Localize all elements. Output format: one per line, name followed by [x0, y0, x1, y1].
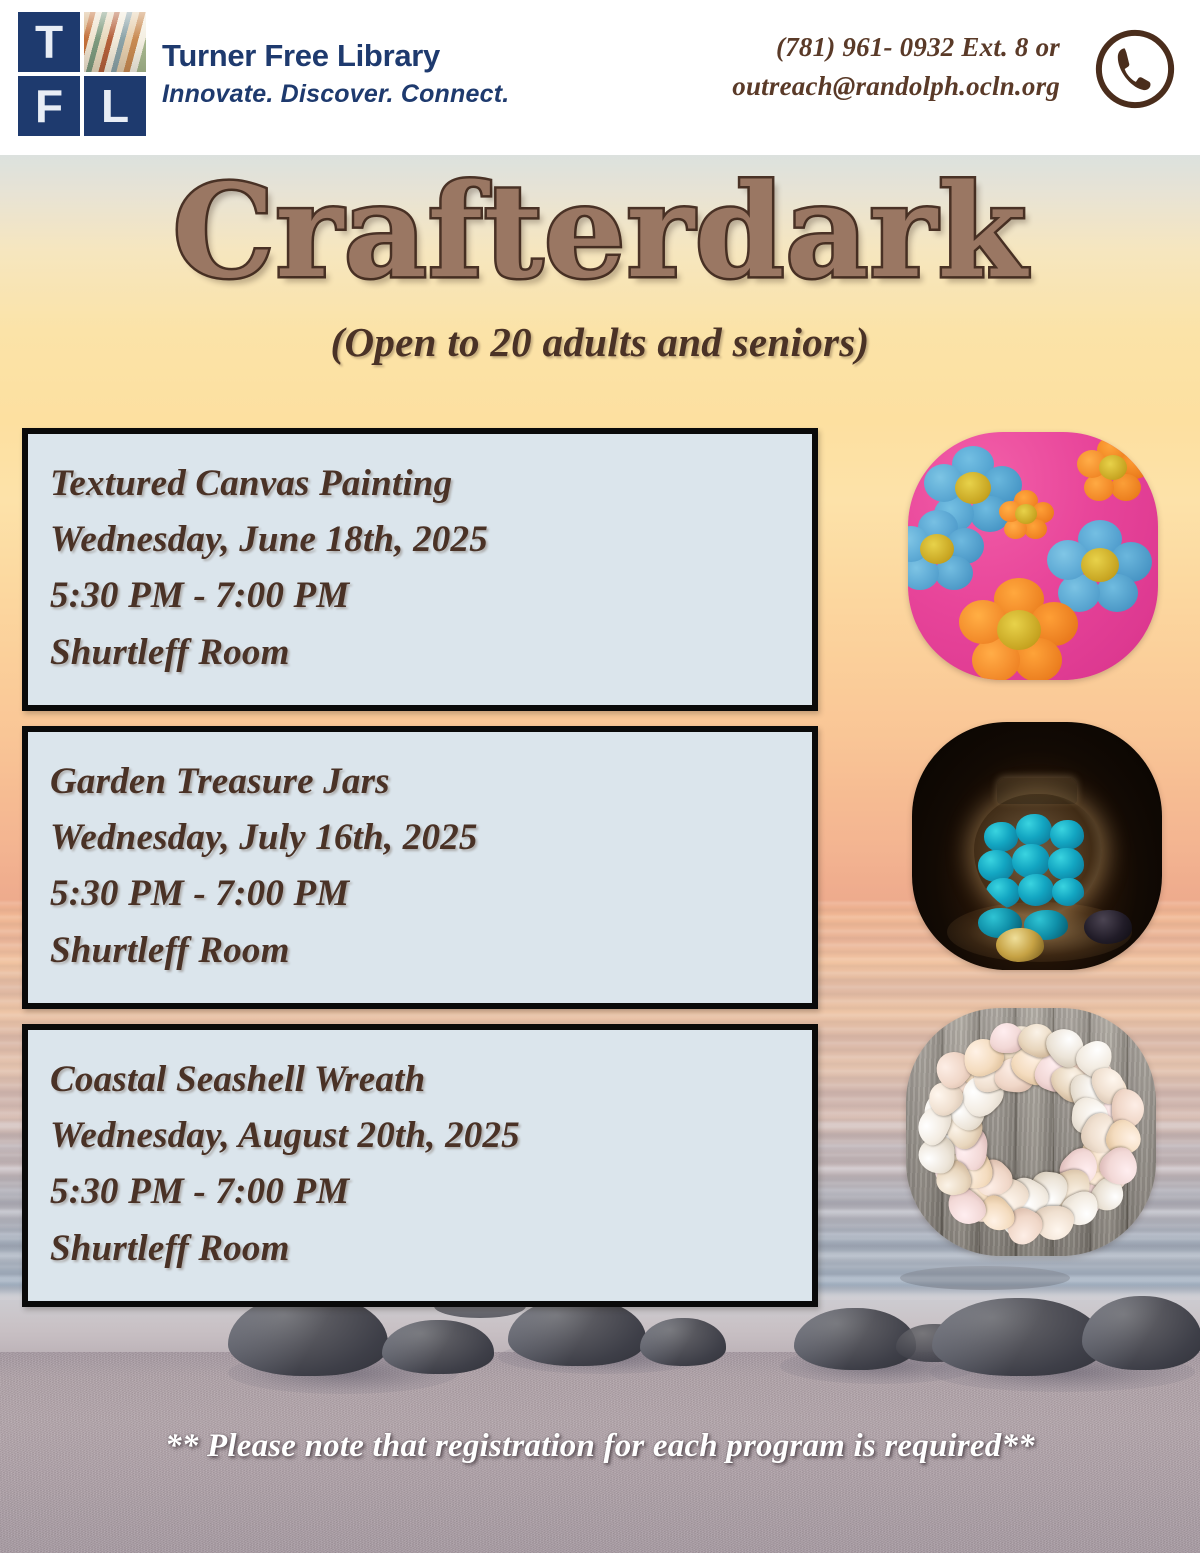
logo-letter-f: F: [18, 76, 80, 136]
event-date: Wednesday, July 16th, 2025: [50, 810, 812, 866]
tfl-logo-mark: T F L: [18, 12, 146, 136]
registration-note: ** Please note that registration for eac…: [0, 1428, 1200, 1465]
event-box-3[interactable]: Coastal Seashell Wreath Wednesday, Augus…: [22, 1024, 818, 1307]
library-tagline: Innovate. Discover. Connect.: [162, 80, 509, 109]
event-date: Wednesday, August 20th, 2025: [50, 1108, 812, 1164]
gem-gold: [996, 928, 1044, 962]
pink-canvas-with-flowers: [908, 432, 1158, 680]
event-photo-textured-canvas-painting: [908, 432, 1158, 680]
phone-circle-icon: [1092, 26, 1178, 112]
glowing-jar-scene: [912, 722, 1162, 970]
event-name: Garden Treasure Jars: [50, 754, 812, 810]
logo-letter-l: L: [84, 76, 146, 136]
flower-orange-2: [1000, 490, 1054, 540]
logo-wordmark: Turner Free Library Innovate. Discover. …: [162, 39, 509, 108]
gem-dark: [1084, 910, 1132, 944]
event-name: Coastal Seashell Wreath: [50, 1052, 812, 1108]
logo-letter-t: T: [18, 12, 80, 72]
event-name: Textured Canvas Painting: [50, 456, 812, 512]
page-subtitle: (Open to 20 adults and seniors): [0, 318, 1200, 366]
library-logo[interactable]: T F L Turner Free Library Innovate. Disc…: [18, 12, 509, 136]
page-title: Crafterdark: [0, 168, 1200, 296]
jar-body: [974, 794, 1102, 916]
contact-phone-line: (781) 961- 0932 Ext. 8 or: [732, 28, 1060, 67]
event-box-2[interactable]: Garden Treasure Jars Wednesday, July 16t…: [22, 726, 818, 1009]
event-location: Shurtleff Room: [50, 625, 812, 681]
contact-info: (781) 961- 0932 Ext. 8 or outreach@rando…: [732, 28, 1060, 106]
books-photo-tile: [84, 12, 146, 72]
flyer-page: T F L Turner Free Library Innovate. Disc…: [0, 0, 1200, 1553]
header-bar: T F L Turner Free Library Innovate. Disc…: [0, 0, 1200, 155]
event-box-1[interactable]: Textured Canvas Painting Wednesday, June…: [22, 428, 818, 711]
event-list: Textured Canvas Painting Wednesday, June…: [22, 428, 818, 1322]
event-date: Wednesday, June 18th, 2025: [50, 512, 812, 568]
seashell-wreath-scene: [906, 1008, 1156, 1256]
library-name: Turner Free Library: [162, 39, 509, 73]
event-location: Shurtleff Room: [50, 923, 812, 979]
contact-email-line[interactable]: outreach@randolph.ocln.org: [732, 67, 1060, 106]
event-photo-coastal-seashell-wreath: [906, 1008, 1156, 1256]
title-block: Crafterdark (Open to 20 adults and senio…: [0, 168, 1200, 366]
event-time: 5:30 PM - 7:00 PM: [50, 866, 812, 922]
event-location: Shurtleff Room: [50, 1221, 812, 1277]
event-time: 5:30 PM - 7:00 PM: [50, 1164, 812, 1220]
flower-orange-1: [1078, 436, 1150, 502]
seashell-ring: [906, 1008, 1156, 1256]
event-time: 5:30 PM - 7:00 PM: [50, 568, 812, 624]
event-photo-garden-treasure-jars: [912, 722, 1162, 970]
flower-orange-3: [960, 578, 1078, 680]
